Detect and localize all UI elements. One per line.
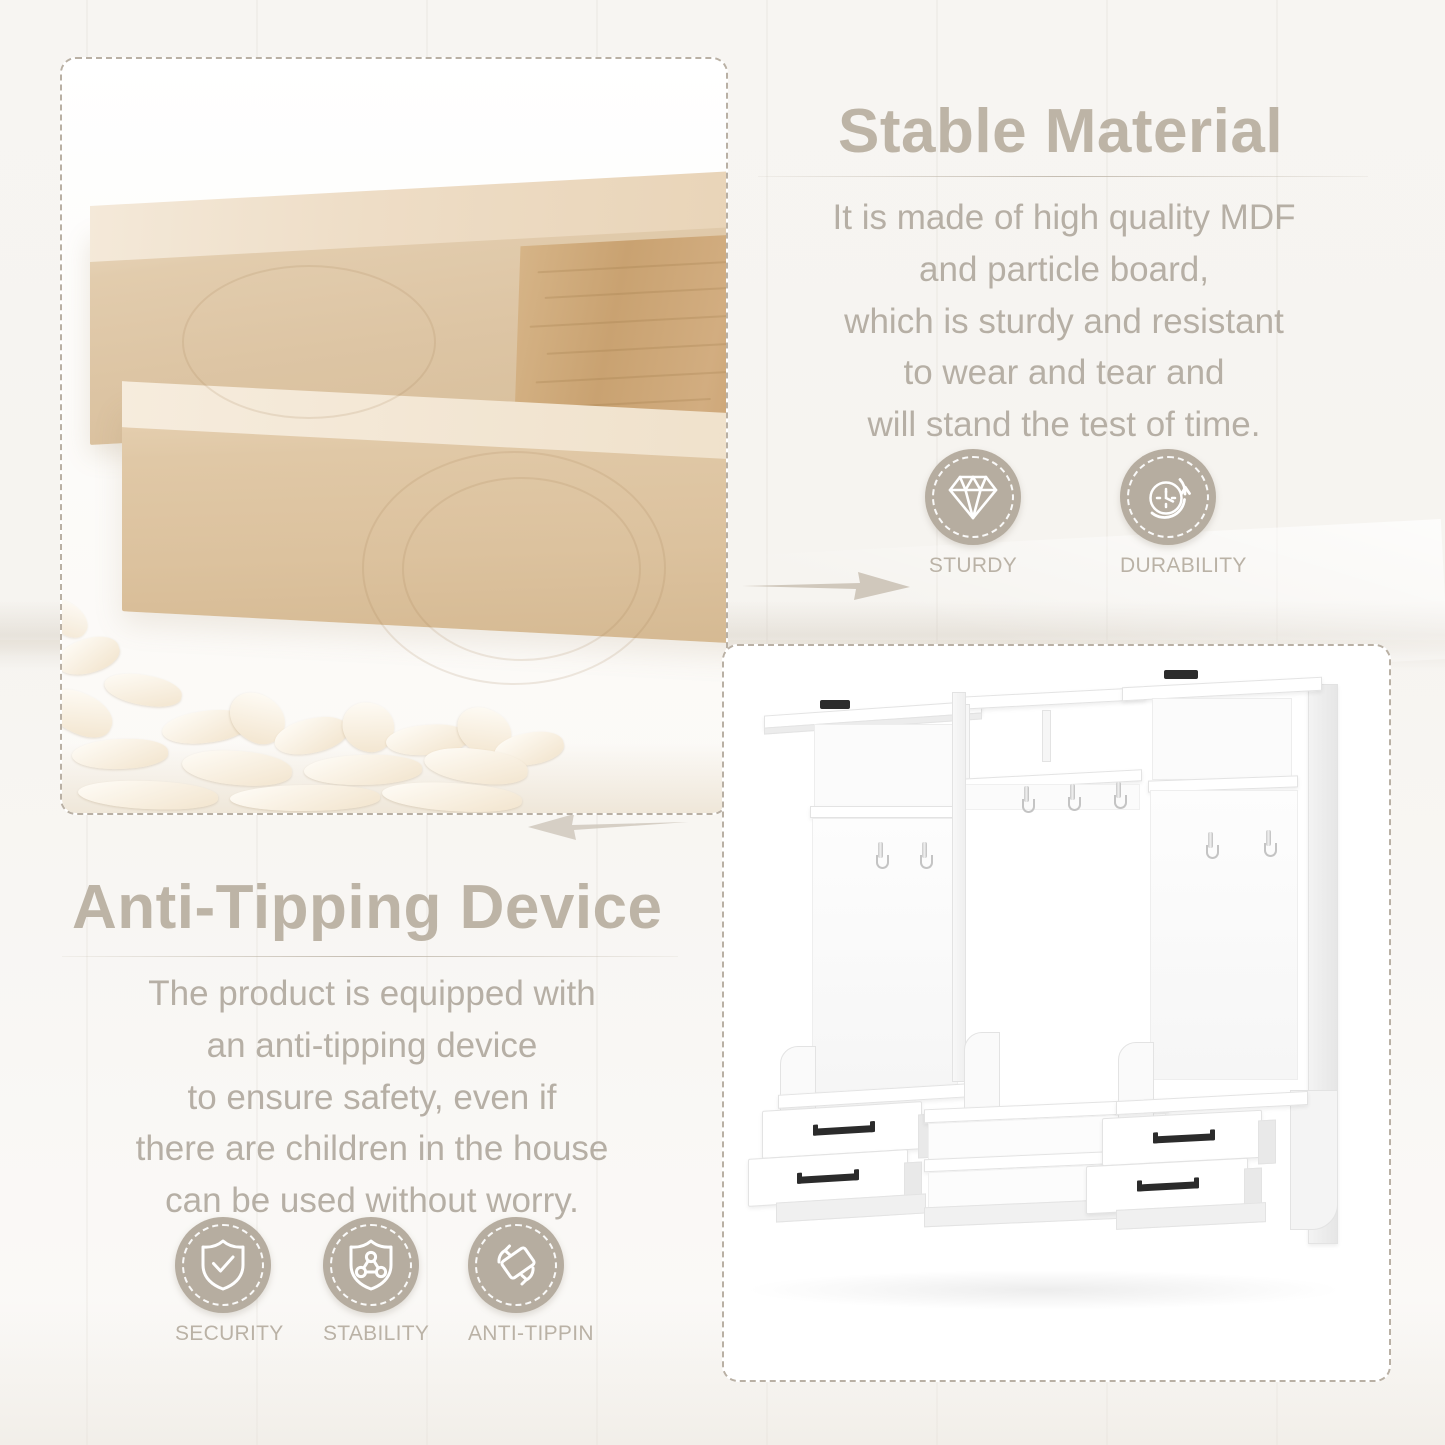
badge-label: STABILITY (323, 1322, 419, 1346)
badge-label: SECURITY (175, 1322, 271, 1346)
center-top-shelf (956, 687, 1146, 710)
unit-right-side-curve (1290, 1090, 1338, 1230)
product-floor-shadow (744, 1270, 1344, 1310)
left-tower-back-panel (814, 724, 954, 809)
stable-material-body: It is made of high quality MDF and parti… (748, 192, 1380, 451)
anti-tipping-divider (62, 956, 678, 957)
body-line: The product is equipped with (56, 968, 688, 1020)
badge-durability: DURABILITY (1120, 449, 1216, 578)
coat-hook-icon (1022, 786, 1031, 812)
badge-label: STURDY (925, 554, 1021, 578)
drawer-handle[interactable] (813, 1125, 875, 1136)
badge-circle (175, 1217, 271, 1313)
badge-anti-tipping: ANTI-TIPPIN (468, 1217, 564, 1346)
badge-sturdy: STURDY (925, 449, 1021, 578)
badge-circle (925, 449, 1021, 545)
clock-refresh-icon (1140, 469, 1196, 525)
drawer-handle[interactable] (1137, 1181, 1199, 1191)
body-line: will stand the test of time. (748, 399, 1380, 451)
coat-hook-icon (1068, 784, 1077, 810)
stable-material-title: Stable Material (838, 96, 1283, 167)
badge-security: SECURITY (175, 1217, 271, 1346)
badge-stability: STABILITY (323, 1217, 419, 1346)
anti-tipping-body: The product is equipped with an anti-tip… (56, 968, 688, 1227)
badge-circle (323, 1217, 419, 1313)
body-line: there are children in the house (56, 1123, 688, 1175)
right-tower-back-panel (1152, 698, 1292, 780)
center-cubby-divider (1042, 710, 1051, 762)
coat-hook-icon (1114, 782, 1123, 808)
body-line: to ensure safety, even if (56, 1072, 688, 1124)
shield-network-icon (346, 1238, 396, 1292)
badge-label: DURABILITY (1120, 554, 1216, 578)
stable-material-divider (758, 176, 1368, 177)
wood-photo-content (62, 59, 726, 813)
body-line: an anti-tipping device (56, 1020, 688, 1072)
coat-hook-icon (876, 842, 885, 868)
wall-bracket (820, 700, 850, 709)
drawer-handle[interactable] (1153, 1133, 1215, 1143)
product-photo-content (724, 646, 1389, 1380)
badge-circle (468, 1217, 564, 1313)
tilt-rotate-icon (489, 1238, 543, 1292)
arrow-right-icon (742, 570, 912, 602)
body-line: It is made of high quality MDF (748, 192, 1380, 244)
product-photo (722, 644, 1391, 1382)
wood-shavings (60, 543, 602, 815)
body-line: and particle board, (748, 244, 1380, 296)
badge-circle (1120, 449, 1216, 545)
badge-label: ANTI-TIPPIN (468, 1322, 564, 1346)
left-mid-shelf (810, 806, 958, 818)
right-tower-panel (1150, 790, 1298, 1080)
body-line: which is sturdy and resistant (748, 296, 1380, 348)
center-bench-curve (964, 1032, 1000, 1112)
anti-tipping-title: Anti-Tipping Device (72, 872, 663, 943)
wood-material-photo (60, 57, 728, 815)
coat-hook-icon (1264, 830, 1273, 856)
drawer-side (1258, 1120, 1276, 1165)
shield-check-icon (198, 1238, 248, 1292)
wood-grain-ring (182, 265, 436, 419)
infographic-canvas: Stable Material It is made of high quali… (0, 0, 1445, 1445)
center-left-stile (952, 692, 966, 1082)
diamond-icon (947, 473, 999, 521)
body-line: to wear and tear and (748, 347, 1380, 399)
coat-hook-icon (920, 842, 929, 868)
wall-bracket (1164, 670, 1198, 679)
coat-hook-icon (1206, 832, 1215, 858)
drawer-handle[interactable] (797, 1173, 859, 1184)
arrow-left-icon (528, 812, 688, 842)
